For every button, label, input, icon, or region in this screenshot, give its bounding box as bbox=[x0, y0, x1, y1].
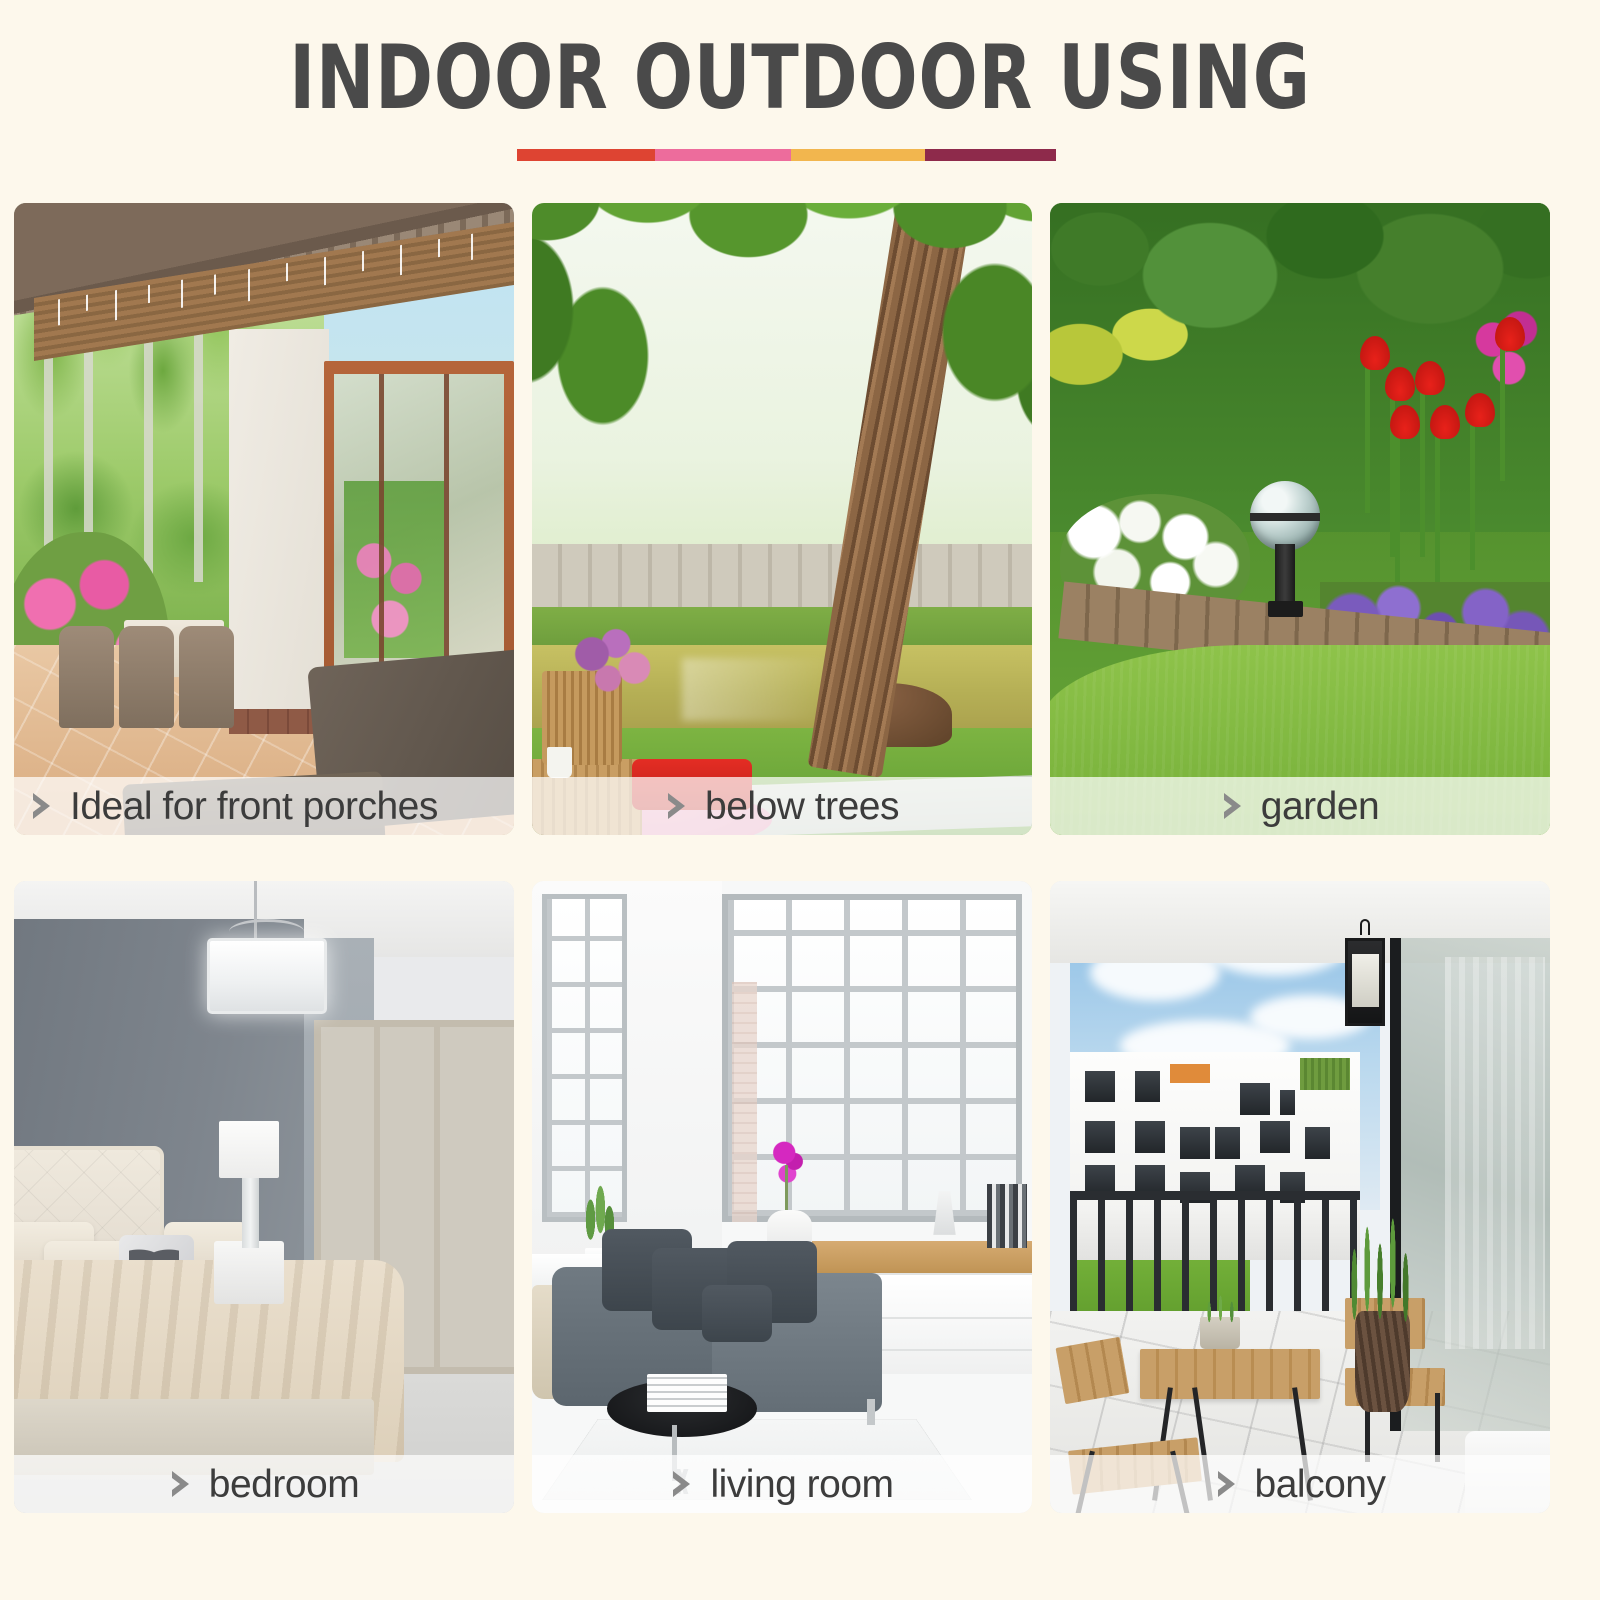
accent-segment-1 bbox=[517, 149, 655, 161]
usage-scenario-grid: Ideal for front porches below bbox=[14, 203, 1586, 1585]
building-window bbox=[1215, 1127, 1240, 1159]
tree-canopy bbox=[532, 203, 1032, 544]
caption-bar: balcony bbox=[1050, 1455, 1550, 1513]
purple-flowers bbox=[572, 626, 652, 696]
red-tulip bbox=[1415, 361, 1445, 395]
bookshelf-books bbox=[987, 1184, 1027, 1247]
chair-leg bbox=[1435, 1393, 1440, 1463]
table-lamp-shade bbox=[219, 1121, 279, 1178]
icicle-light bbox=[115, 290, 117, 320]
red-tulip bbox=[1430, 405, 1460, 439]
icicle-light bbox=[324, 257, 326, 285]
header: INDOOR OUTDOOR USING bbox=[0, 0, 1600, 196]
below-trees-photo bbox=[532, 203, 1032, 835]
roof-hedge bbox=[1300, 1058, 1350, 1090]
wicker-chair bbox=[59, 626, 114, 727]
building-window bbox=[1305, 1127, 1330, 1159]
coffee-cup bbox=[547, 747, 572, 779]
drum-chandelier bbox=[207, 938, 327, 1014]
light-base bbox=[1268, 601, 1303, 617]
wicker-chair bbox=[179, 626, 234, 727]
red-tulip bbox=[1495, 317, 1525, 351]
caption-label: balcony bbox=[1255, 1465, 1386, 1504]
orange-sign bbox=[1170, 1064, 1210, 1083]
chevron-right-icon bbox=[665, 791, 691, 821]
industrial-grid-window bbox=[722, 894, 1022, 1223]
scenario-card-bedroom[interactable]: bedroom bbox=[14, 881, 514, 1513]
light-post bbox=[1275, 544, 1295, 607]
icicle-light bbox=[248, 269, 250, 301]
building-window bbox=[1135, 1121, 1165, 1153]
scenario-card-living-room[interactable]: living room bbox=[532, 881, 1032, 1513]
ornamental-grass bbox=[1340, 1178, 1420, 1330]
orchid-flowers bbox=[772, 1140, 807, 1191]
caption-label: below trees bbox=[705, 787, 899, 826]
building-window bbox=[1085, 1071, 1115, 1103]
building-window bbox=[1280, 1090, 1295, 1115]
red-tulip bbox=[1385, 367, 1415, 401]
caption-label: garden bbox=[1261, 787, 1379, 826]
accent-color-bar bbox=[517, 149, 1056, 161]
icicle-light bbox=[471, 234, 473, 260]
icicle-light bbox=[181, 280, 183, 308]
railing-handrail bbox=[1070, 1191, 1360, 1200]
icicle-light bbox=[362, 251, 364, 271]
caption-bar: below trees bbox=[532, 777, 1032, 835]
icicle-light bbox=[86, 295, 88, 311]
chevron-right-icon bbox=[1215, 1469, 1241, 1499]
chevron-right-icon bbox=[1221, 791, 1247, 821]
balcony-photo bbox=[1050, 881, 1550, 1513]
icicle-light bbox=[438, 239, 440, 257]
building-window bbox=[1260, 1121, 1290, 1153]
accent-segment-2 bbox=[655, 149, 791, 161]
tulip-stem bbox=[1365, 361, 1370, 513]
living-room-photo bbox=[532, 881, 1032, 1513]
building-window bbox=[1085, 1121, 1115, 1153]
chevron-right-icon bbox=[670, 1469, 696, 1499]
building-window bbox=[1180, 1127, 1210, 1159]
caption-bar: garden bbox=[1050, 777, 1550, 835]
sofa-cushion bbox=[702, 1285, 772, 1342]
chevron-right-icon bbox=[169, 1469, 195, 1499]
caption-label: bedroom bbox=[209, 1465, 359, 1504]
caption-bar: Ideal for front porches bbox=[14, 777, 514, 835]
tulip-stem bbox=[1470, 418, 1475, 570]
building-window bbox=[1135, 1071, 1160, 1103]
door-mullion bbox=[434, 1020, 440, 1374]
chevron-right-icon bbox=[30, 791, 56, 821]
tulip-stem bbox=[1395, 431, 1400, 583]
lantern-glass bbox=[1352, 954, 1379, 1008]
caption-bar: living room bbox=[532, 1455, 1032, 1513]
scenario-card-below-trees[interactable]: below trees bbox=[532, 203, 1032, 835]
sheer-curtain bbox=[1445, 957, 1545, 1349]
building-window bbox=[1240, 1083, 1270, 1115]
scenario-card-front-porch[interactable]: Ideal for front porches bbox=[14, 203, 514, 835]
small-grass-plant bbox=[1198, 1286, 1243, 1324]
caption-label: living room bbox=[710, 1465, 893, 1504]
garden-reflection bbox=[344, 481, 444, 658]
brick-wall-strip bbox=[732, 982, 757, 1222]
bistro-chair-back bbox=[1056, 1337, 1130, 1404]
scenario-card-garden[interactable]: garden bbox=[1050, 203, 1550, 835]
globe-light-band bbox=[1250, 513, 1320, 521]
red-tulip bbox=[1390, 405, 1420, 439]
tulip-stem bbox=[1500, 342, 1505, 481]
nightstand bbox=[214, 1241, 284, 1304]
caption-label: Ideal for front porches bbox=[70, 787, 438, 826]
scenario-card-balcony[interactable]: balcony bbox=[1050, 881, 1550, 1513]
accent-segment-4 bbox=[925, 149, 1056, 161]
wicker-chair bbox=[119, 626, 174, 727]
icicle-light bbox=[286, 263, 288, 281]
page-title: INDOOR OUTDOOR USING bbox=[96, 30, 1504, 125]
house-wall bbox=[229, 329, 329, 721]
caption-bar: bedroom bbox=[14, 1455, 514, 1513]
tulip-stem bbox=[1435, 431, 1440, 583]
front-porch-photo bbox=[14, 203, 514, 835]
icicle-light bbox=[58, 299, 60, 325]
sofa-leg bbox=[867, 1399, 875, 1424]
icicle-light bbox=[214, 274, 216, 294]
icicle-light bbox=[400, 245, 402, 275]
bedroom-photo bbox=[14, 881, 514, 1513]
icicle-light bbox=[148, 285, 150, 303]
lantern-hook bbox=[1360, 919, 1370, 935]
garden-photo bbox=[1050, 203, 1550, 835]
table-lamp-base bbox=[242, 1172, 260, 1248]
accent-segment-3 bbox=[791, 149, 925, 161]
tulip-stem bbox=[1420, 386, 1425, 557]
book-stack bbox=[647, 1374, 727, 1412]
